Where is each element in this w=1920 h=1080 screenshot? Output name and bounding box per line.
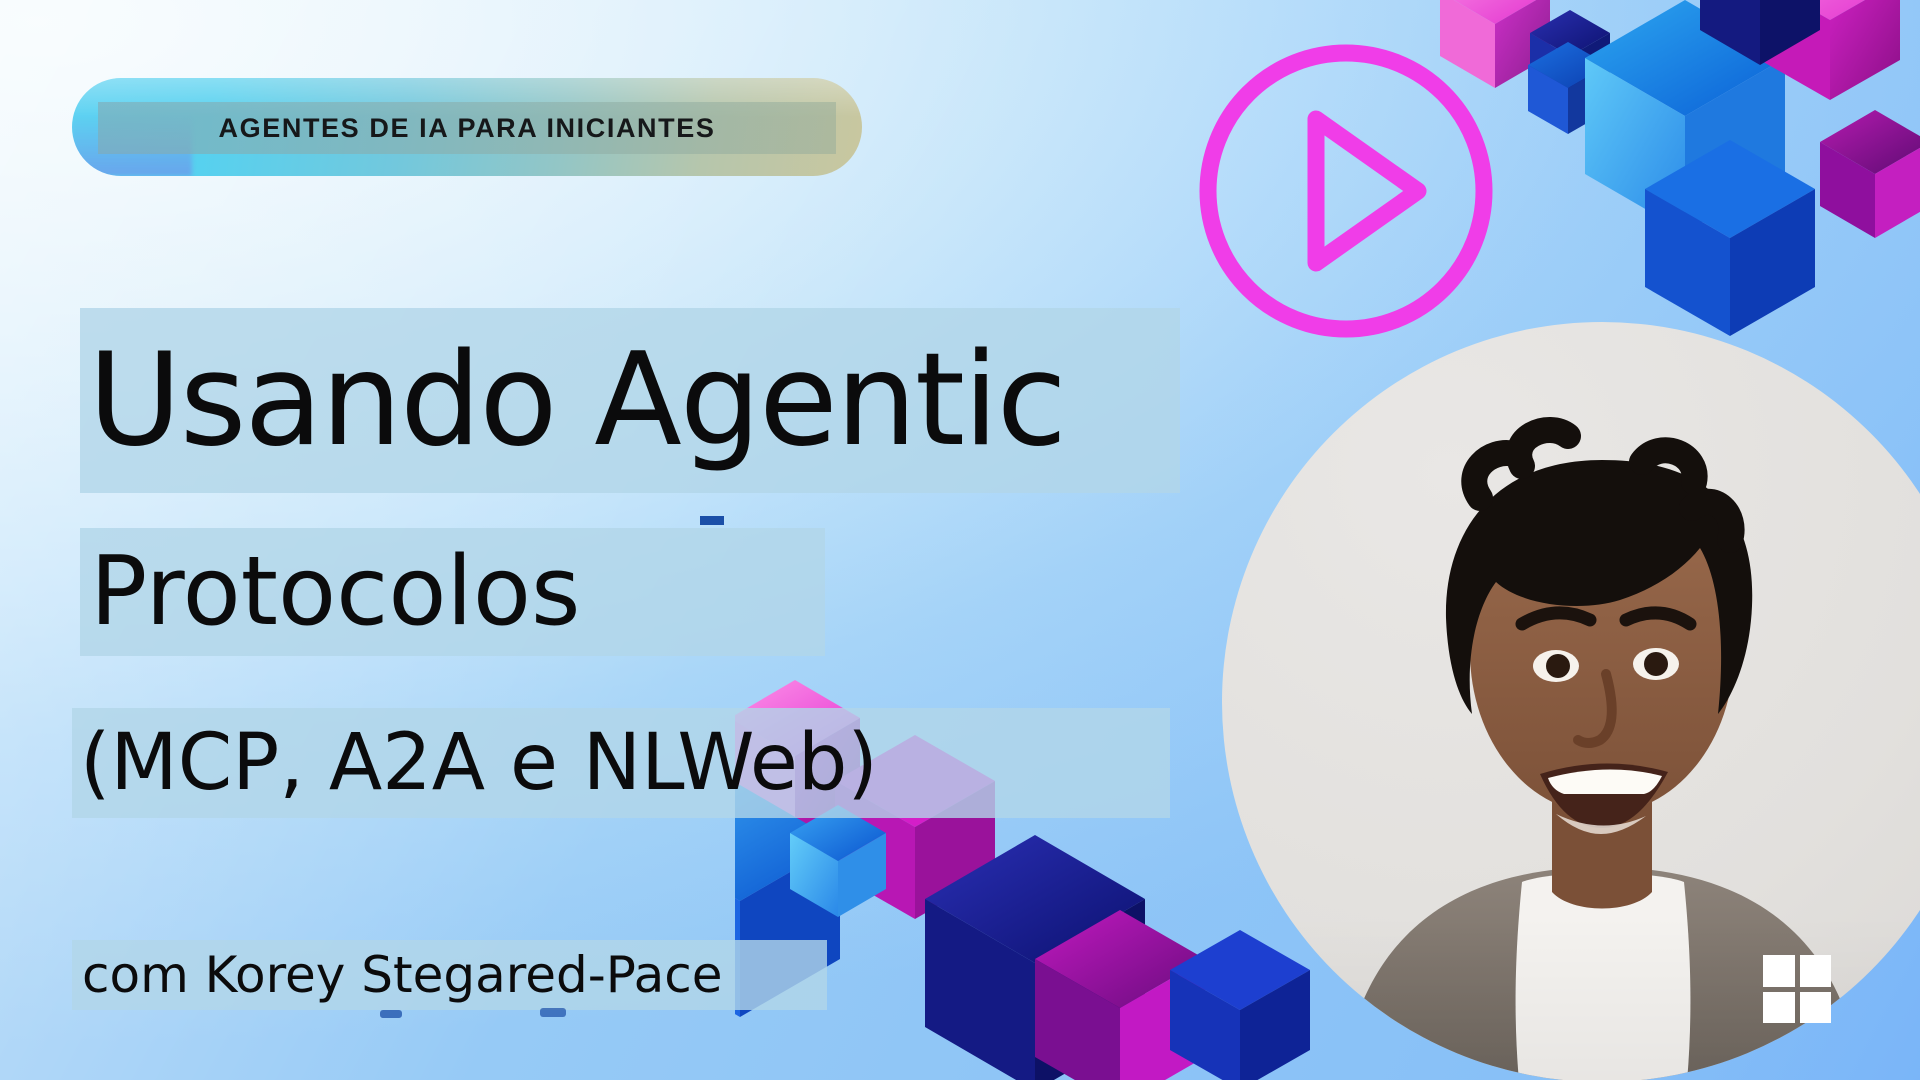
title-line-1-text: Usando Agentic	[80, 337, 1065, 465]
presenter-credit: com Korey Stegared-Pace	[72, 940, 827, 1010]
badge-inner-panel: AGENTES DE IA PARA INICIANTES	[98, 102, 836, 154]
caption-artifact-mark-a	[380, 1010, 402, 1018]
title-line-3-text: (MCP, A2A e NLWeb)	[72, 724, 878, 802]
microsoft-logo-icon	[1763, 955, 1831, 1023]
caption-artifact-mark-b	[540, 1008, 566, 1017]
course-thumbnail-slide: { "badge": { "label": "AGENTES DE IA PAR…	[0, 0, 1920, 1080]
title-line-2: Protocolos	[80, 528, 825, 656]
presenter-credit-text: com Korey Stegared-Pace	[72, 950, 723, 1000]
badge-label: AGENTES DE IA PARA INICIANTES	[219, 113, 716, 144]
title-line-1: Usando Agentic	[80, 308, 1180, 493]
caption-artifact-dash	[700, 516, 724, 525]
title-line-3: (MCP, A2A e NLWeb)	[72, 708, 1170, 818]
category-badge: AGENTES DE IA PARA INICIANTES	[72, 78, 862, 176]
play-circle-icon[interactable]	[1190, 35, 1502, 347]
title-line-2-text: Protocolos	[80, 545, 580, 640]
